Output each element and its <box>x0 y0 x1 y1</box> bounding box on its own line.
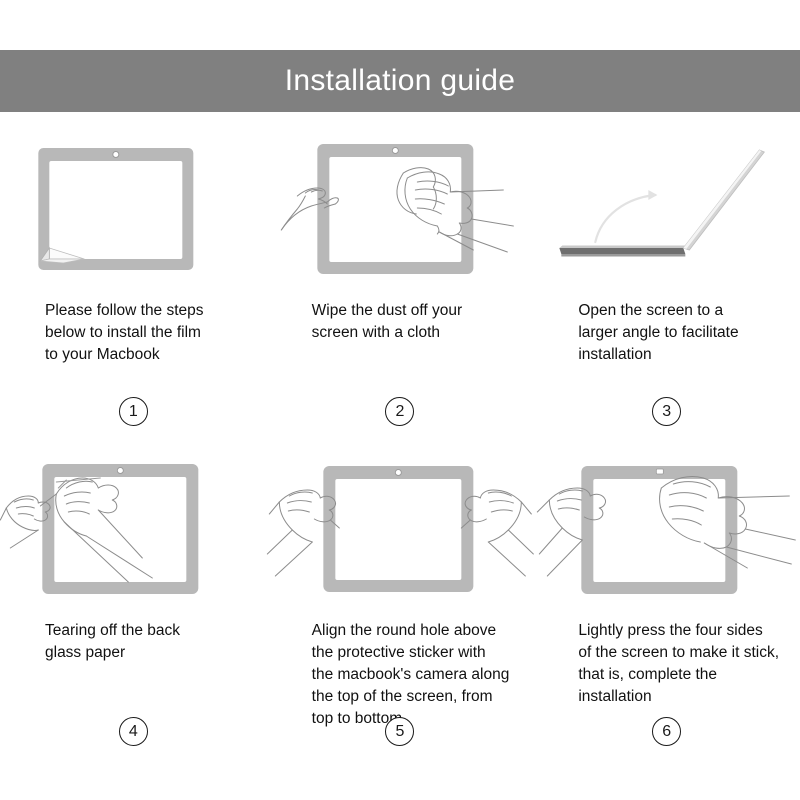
laptop-side-profile-opening-screen-arrow-icon <box>533 130 800 290</box>
hand-pressing-film-onto-screen-icon <box>533 450 800 610</box>
step-6-illustration <box>533 450 800 610</box>
step-number-badge: 6 <box>652 717 681 746</box>
step-1-illustration <box>0 130 267 290</box>
step-number-badge: 4 <box>119 717 148 746</box>
step-2-caption: Wipe the dust off your screen with a clo… <box>267 300 475 344</box>
step-6-caption: Lightly press the four sides of the scre… <box>533 620 800 708</box>
step-card-5: Align the round hole above the protectiv… <box>267 450 534 770</box>
steps-grid: Please follow the steps below to install… <box>0 130 800 770</box>
step-1-caption: Please follow the steps below to install… <box>0 300 216 366</box>
step-3-illustration <box>533 130 800 290</box>
step-card-6: Lightly press the four sides of the scre… <box>533 450 800 770</box>
step-4-illustration <box>0 450 267 610</box>
step-3-badge-row: 3 <box>533 397 800 426</box>
two-hands-aligning-film-over-screen-icon <box>267 450 534 610</box>
page-title: Installation guide <box>285 64 516 98</box>
step-number-badge: 1 <box>119 397 148 426</box>
step-3-caption: Open the screen to a larger angle to fac… <box>533 300 750 366</box>
header-banner: Installation guide <box>0 50 800 112</box>
step-5-caption: Align the round hole above the protectiv… <box>267 620 522 730</box>
hand-peeling-backing-paper-from-film-icon <box>0 450 267 610</box>
hands-wiping-screen-with-cloth-icon <box>267 130 534 290</box>
step-card-3: Open the screen to a larger angle to fac… <box>533 130 800 450</box>
step-number-badge: 3 <box>652 397 681 426</box>
step-2-illustration <box>267 130 534 290</box>
step-card-4: Tearing off the back glass paper 4 <box>0 450 267 770</box>
step-card-2: Wipe the dust off your screen with a clo… <box>267 130 534 450</box>
step-number-badge: 2 <box>385 397 414 426</box>
step-card-1: Please follow the steps below to install… <box>0 130 267 450</box>
laptop-screen-with-peeling-film-corner-icon <box>0 130 267 290</box>
step-4-caption: Tearing off the back glass paper <box>0 620 192 664</box>
step-6-badge-row: 6 <box>533 717 800 746</box>
step-5-illustration <box>267 450 534 610</box>
